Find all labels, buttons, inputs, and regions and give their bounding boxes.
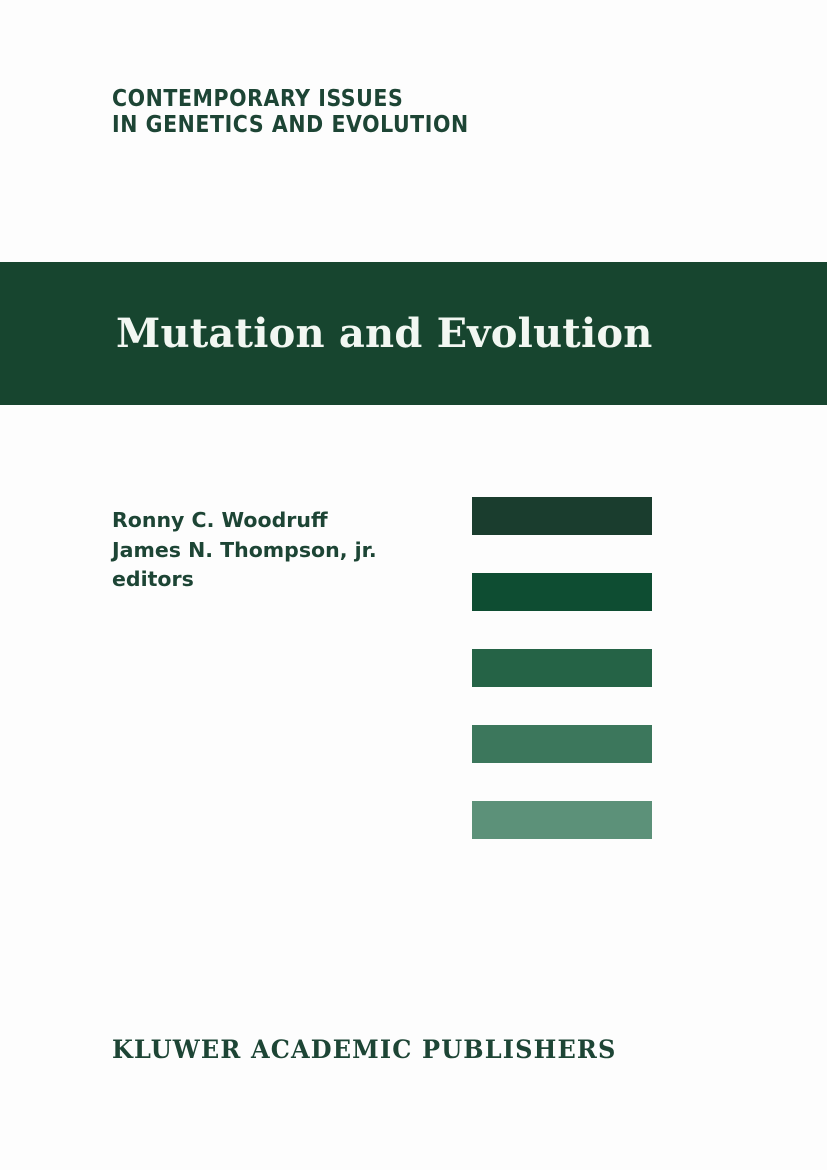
decorative-bar-4 [472,725,652,763]
title-band: Mutation and Evolution [0,262,827,405]
editors-role-label: editors [112,565,377,595]
series-title-line-1: Contemporary Issues [112,86,655,112]
decorative-bar-5 [472,801,652,839]
series-title: Contemporary Issues in Genetics and Evol… [112,86,655,137]
decorative-bar-3 [472,649,652,687]
editor-name-2: James N. Thompson, jr. [112,536,377,566]
publisher-name: Kluwer Academic Publishers [112,1036,616,1064]
book-cover: Contemporary Issues in Genetics and Evol… [0,0,827,1170]
decorative-bar-1 [472,497,652,535]
editors-block: Ronny C. Woodruff James N. Thompson, jr.… [112,506,377,595]
series-title-line-2: in Genetics and Evolution [112,112,655,138]
editor-name-1: Ronny C. Woodruff [112,506,377,536]
decorative-bar-stack [472,497,652,839]
decorative-bar-2 [472,573,652,611]
book-title: Mutation and Evolution [116,311,653,357]
